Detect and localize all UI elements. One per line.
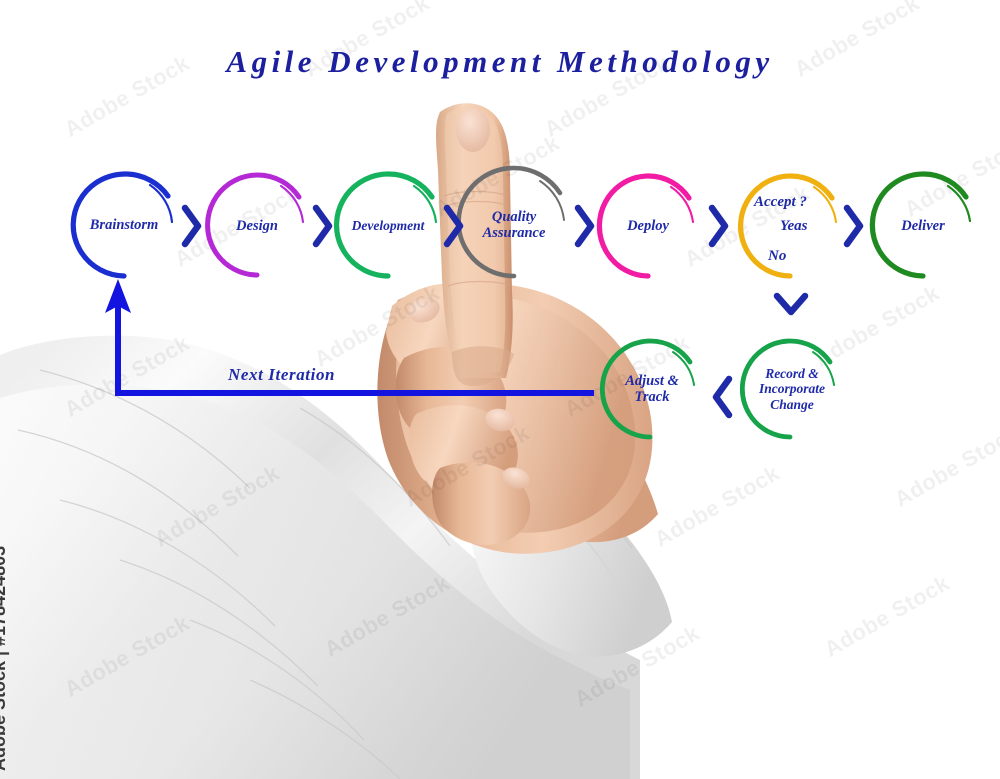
- node-label-line2: Assurance: [483, 225, 546, 241]
- chevron-left-bottom: [716, 379, 729, 415]
- watermark-tile: Adobe Stock: [400, 420, 534, 513]
- node-adjust-track[interactable]: Adjust & Track: [604, 341, 700, 437]
- chevron-right-1: [185, 208, 198, 244]
- node-label: Deliver: [872, 175, 974, 277]
- hand-pointing-photo: [0, 0, 1000, 779]
- agile-methodology-diagram: Adobe Stock Adobe Stock Adobe Stock Adob…: [0, 0, 1000, 779]
- watermark-tile: Adobe Stock: [310, 280, 444, 373]
- chevron-right-5: [712, 208, 725, 244]
- adobe-stock-watermark: Adobe Stock | #178424803: [0, 546, 10, 771]
- diagram-vector-layer: [0, 0, 1000, 779]
- node-label-line2: Track: [635, 389, 670, 405]
- node-label-line1: Quality: [492, 209, 536, 225]
- watermark-tile: Adobe Stock: [890, 420, 1000, 513]
- node-label: Development: [336, 175, 440, 277]
- node-label-line1: Adjust &: [625, 373, 679, 389]
- node-deploy[interactable]: Deploy: [599, 176, 697, 276]
- node-label: Deploy: [599, 176, 697, 276]
- chevron-right-6: [847, 208, 860, 244]
- node-label-line1: Record &: [765, 366, 819, 381]
- node-accept-decision[interactable]: Accept ? Yeas No: [740, 176, 840, 276]
- node-quality-assurance[interactable]: Quality Assurance: [459, 171, 569, 279]
- decision-question: Accept ?: [754, 194, 807, 211]
- page-title: Agile Development Methodology: [0, 44, 1000, 80]
- node-deliver[interactable]: Deliver: [872, 175, 974, 277]
- node-design[interactable]: Design: [207, 176, 307, 276]
- next-iteration-label: Next Iteration: [228, 365, 335, 385]
- watermark-tile: Adobe Stock: [650, 460, 784, 553]
- watermark-tile: Adobe Stock: [570, 620, 704, 713]
- node-label-line2: Incorporate: [759, 381, 825, 396]
- node-brainstorm[interactable]: Brainstorm: [72, 174, 176, 276]
- watermark-tile: Adobe Stock: [320, 570, 454, 663]
- next-iteration-arrowhead: [105, 279, 131, 313]
- next-iteration-arrow: [118, 300, 594, 393]
- node-label: Brainstorm: [72, 174, 176, 276]
- decision-no-option[interactable]: No: [768, 248, 786, 265]
- watermark-tile: Adobe Stock: [150, 460, 284, 553]
- node-label-line3: Change: [770, 397, 814, 412]
- node-development[interactable]: Development: [336, 175, 440, 277]
- chevron-down-decision: [777, 296, 805, 312]
- chevron-right-4: [578, 208, 591, 244]
- node-label: Design: [207, 176, 307, 276]
- watermark-tile: Adobe Stock: [820, 570, 954, 663]
- watermark-tile: Adobe Stock: [60, 610, 194, 703]
- decision-yes-option[interactable]: Yeas: [780, 218, 808, 235]
- watermark-tile: Adobe Stock: [60, 330, 194, 423]
- node-record-change[interactable]: Record & Incorporate Change: [744, 341, 840, 437]
- chevron-right-2: [316, 208, 329, 244]
